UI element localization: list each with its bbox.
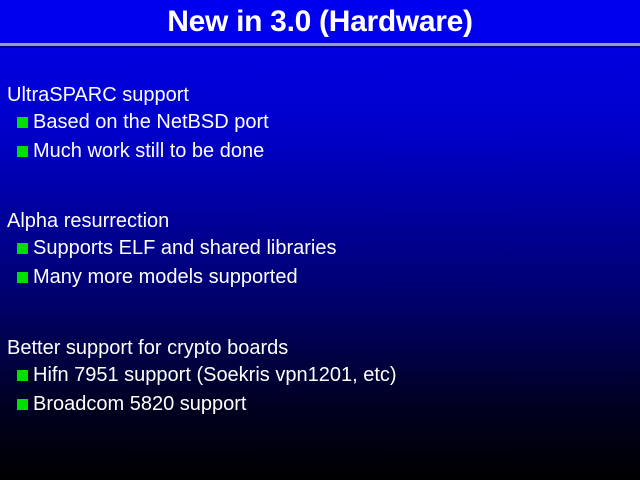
bullet-item: Many more models supported [0, 263, 640, 292]
bullet-label: Supports ELF and shared libraries [33, 234, 337, 263]
bullet-label: Many more models supported [33, 263, 298, 292]
content-section-crypto: Better support for crypto boards Hifn 79… [0, 335, 640, 419]
slide: New in 3.0 (Hardware) UltraSPARC support… [0, 0, 640, 480]
section-heading: UltraSPARC support [0, 82, 640, 108]
bullet-label: Based on the NetBSD port [33, 108, 269, 137]
square-bullet-icon [17, 146, 28, 157]
section-heading: Alpha resurrection [0, 208, 640, 234]
content-section-alpha: Alpha resurrection Supports ELF and shar… [0, 208, 640, 292]
slide-title-bar: New in 3.0 (Hardware) [0, 0, 640, 43]
square-bullet-icon [17, 399, 28, 410]
bullet-label: Hifn 7951 support (Soekris vpn1201, etc) [33, 361, 397, 390]
content-section-ultrasparc: UltraSPARC support Based on the NetBSD p… [0, 82, 640, 166]
square-bullet-icon [17, 272, 28, 283]
bullet-item: Based on the NetBSD port [0, 108, 640, 137]
bullet-item: Broadcom 5820 support [0, 390, 640, 419]
bullet-label: Much work still to be done [33, 137, 264, 166]
bullet-item: Supports ELF and shared libraries [0, 234, 640, 263]
page-title: New in 3.0 (Hardware) [0, 4, 640, 40]
square-bullet-icon [17, 370, 28, 381]
bullet-label: Broadcom 5820 support [33, 390, 246, 419]
bullet-item: Much work still to be done [0, 137, 640, 166]
section-heading: Better support for crypto boards [0, 335, 640, 361]
slide-body: UltraSPARC support Based on the NetBSD p… [0, 48, 640, 480]
bullet-item: Hifn 7951 support (Soekris vpn1201, etc) [0, 361, 640, 390]
square-bullet-icon [17, 243, 28, 254]
square-bullet-icon [17, 117, 28, 128]
